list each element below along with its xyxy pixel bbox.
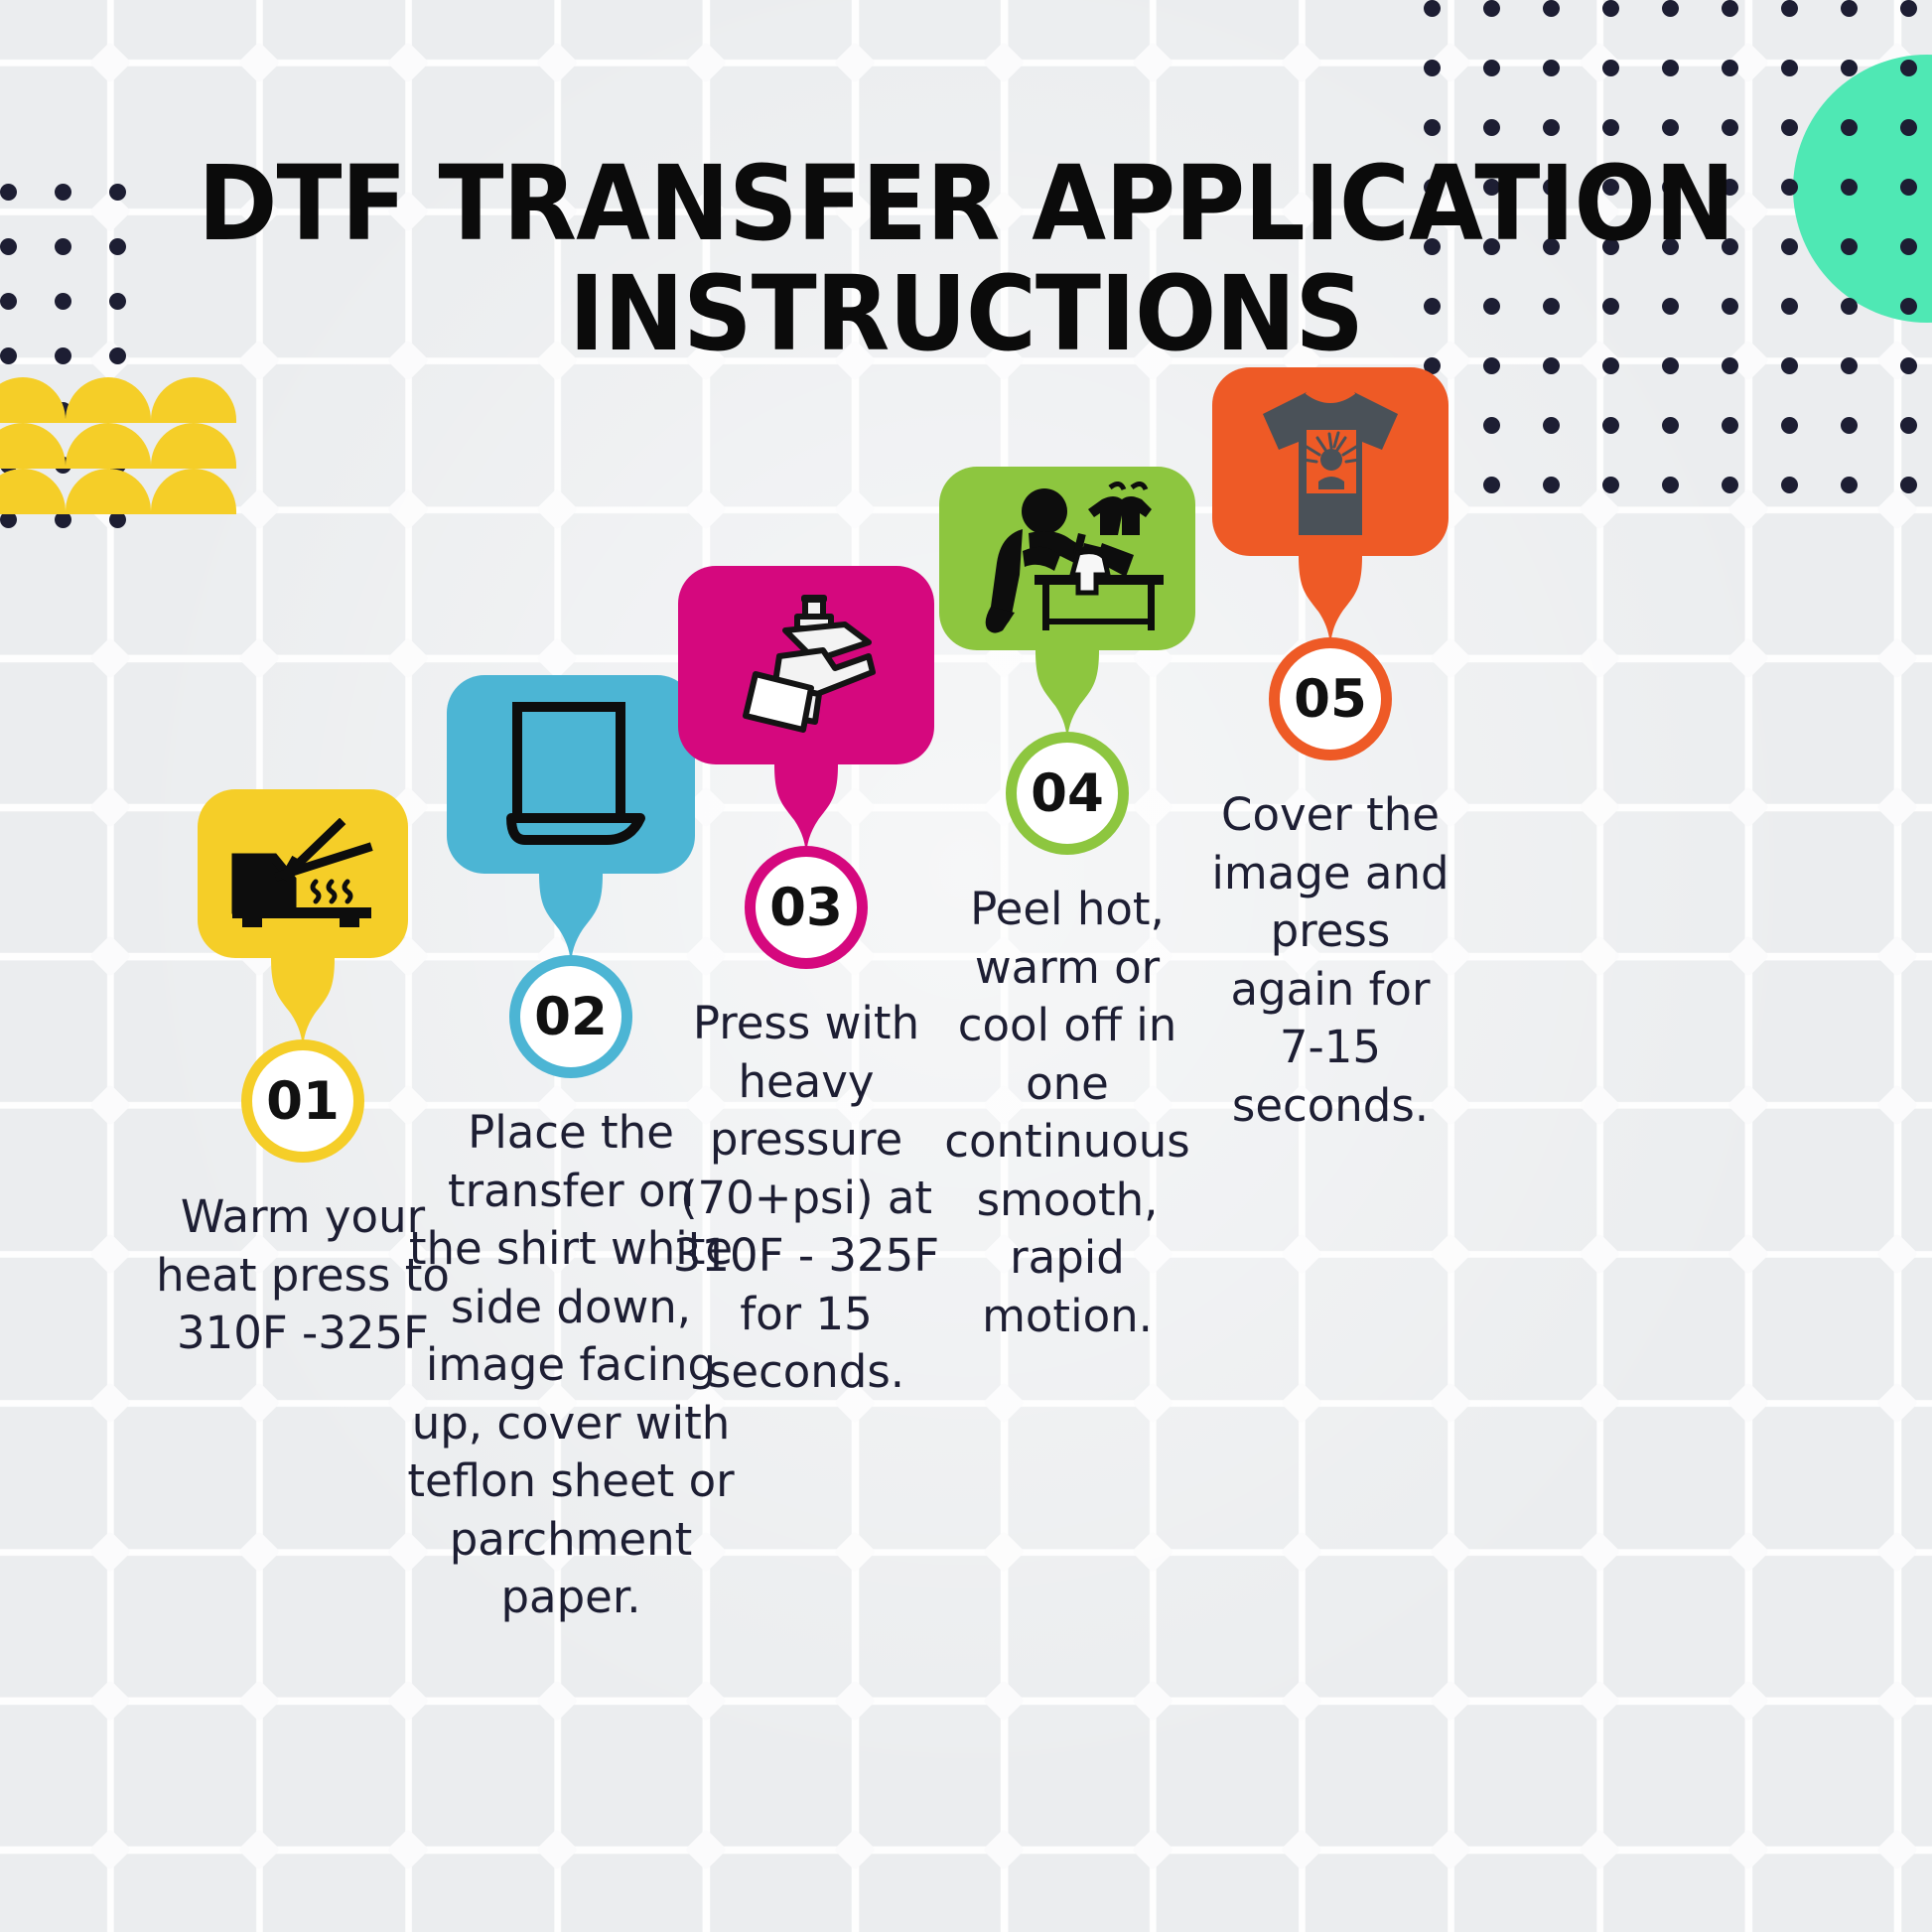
step-03: 03 Press with heavy pressure (70+psi) at… [667, 566, 945, 1402]
step-04-icon-card[interactable] [939, 467, 1195, 650]
step-02-number: 02 [534, 987, 608, 1047]
step-05-caption: Cover the image and press again for 7-15… [1204, 786, 1457, 1135]
step-01-number: 01 [266, 1071, 340, 1132]
peeling-worker-icon [963, 482, 1172, 635]
step-04-caption: Peel hot, warm or cool off in one contin… [933, 881, 1201, 1345]
step-04: 04 Peel hot, warm or cool off in one con… [923, 467, 1211, 1345]
step-05-number-badge[interactable]: 05 [1269, 637, 1392, 760]
step-04-number-badge[interactable]: 04 [1006, 732, 1129, 855]
step-03-icon-card[interactable] [678, 566, 934, 764]
step-05-number: 05 [1294, 669, 1367, 730]
step-02-icon-card[interactable] [447, 675, 695, 874]
heat-press-icon [228, 818, 377, 929]
step-02-number-badge[interactable]: 02 [509, 955, 632, 1078]
step-05: 05 Cover the image and press again for 7… [1186, 367, 1474, 1135]
page-title-line-2: INSTRUCTIONS [68, 259, 1864, 369]
transfer-sheet-icon [491, 699, 650, 850]
printed-tshirt-icon [1241, 382, 1420, 541]
step-01-icon-card[interactable] [198, 789, 408, 958]
page-title: DTF TRANSFER APPLICATION INSTRUCTIONS [68, 149, 1864, 370]
step-03-caption: Press with heavy pressure (70+psi) at 31… [670, 995, 943, 1402]
step-04-number: 04 [1031, 763, 1104, 824]
heat-press-pressing-icon [720, 591, 894, 740]
step-01-number-badge[interactable]: 01 [241, 1039, 364, 1163]
page-title-line-1: DTF TRANSFER APPLICATION [68, 149, 1864, 259]
step-05-icon-card[interactable] [1212, 367, 1449, 556]
step-03-number: 03 [769, 878, 843, 938]
step-03-number-badge[interactable]: 03 [745, 846, 868, 969]
